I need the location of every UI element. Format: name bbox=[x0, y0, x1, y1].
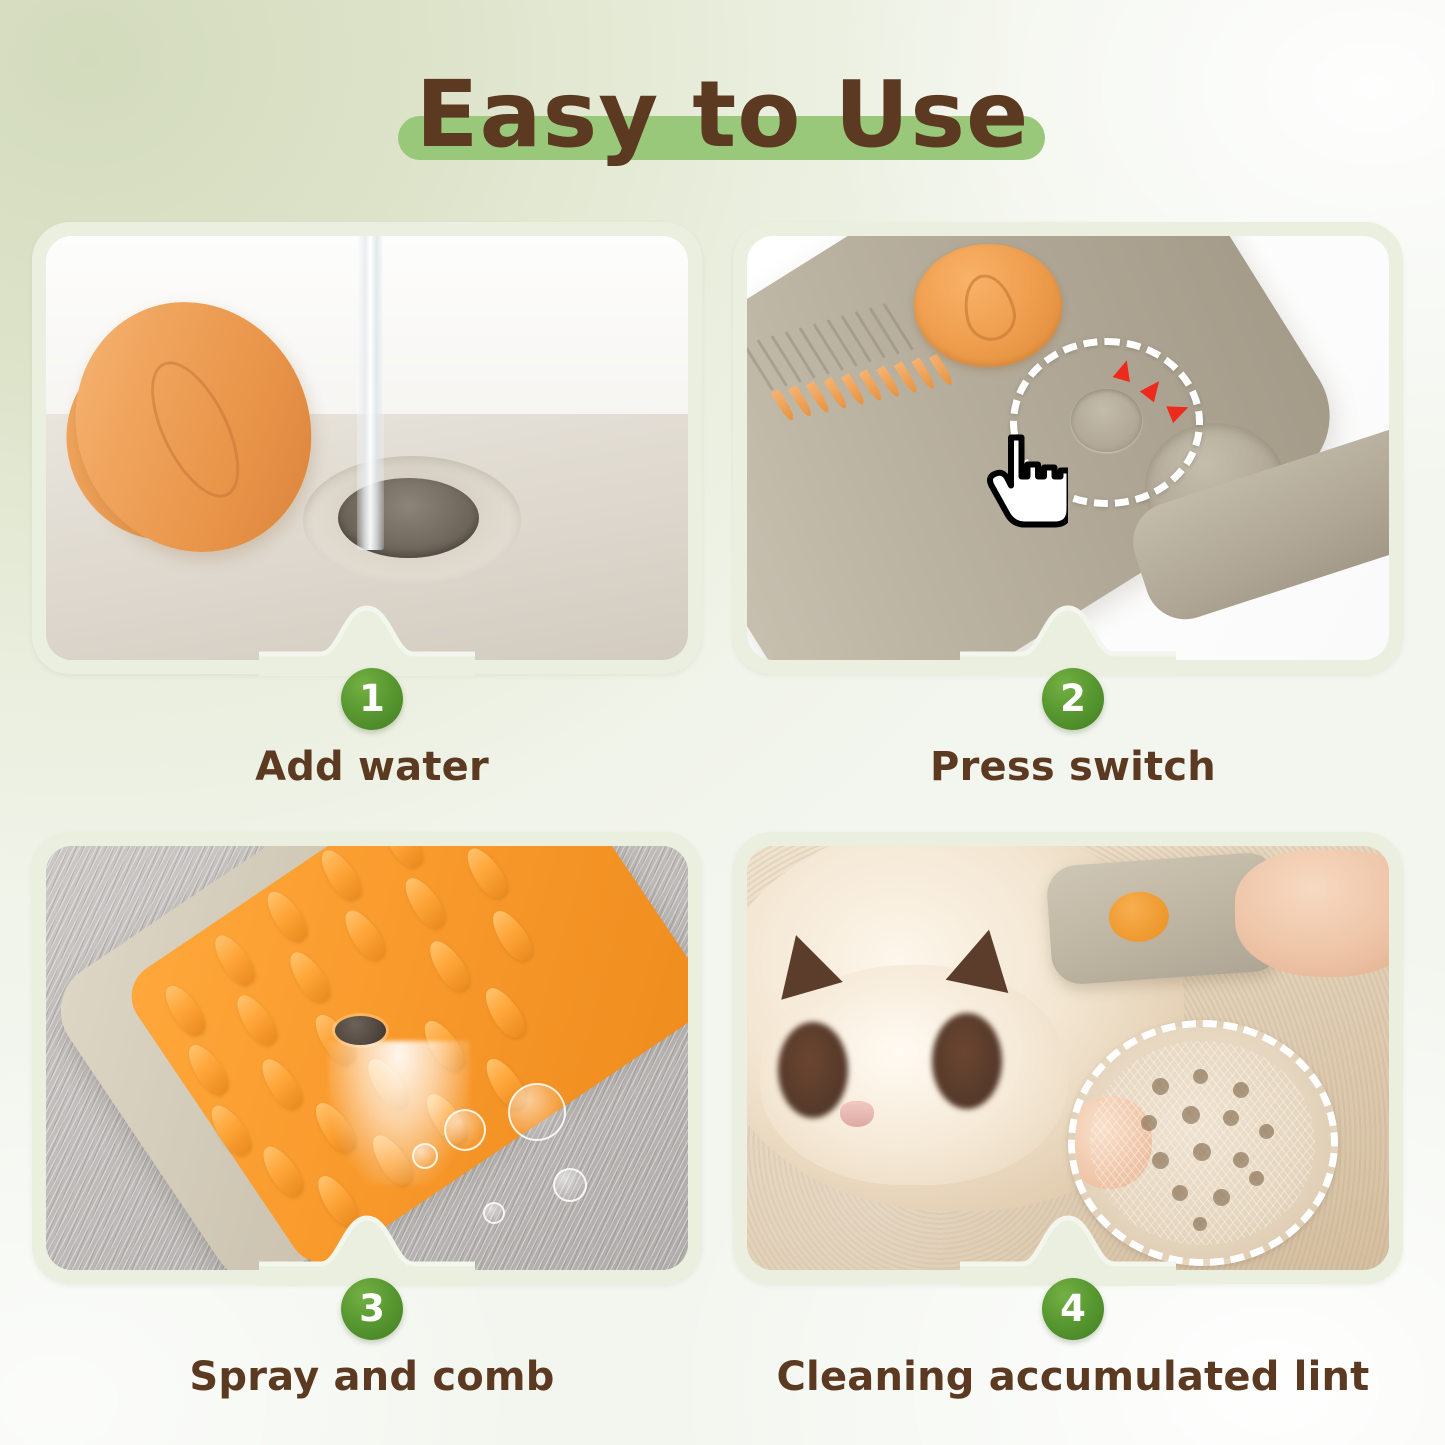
step-2-number-badge: 2 bbox=[1042, 668, 1104, 730]
photo-4-cat-eye-patch-left bbox=[778, 1022, 848, 1118]
step-card-2: 2 Press switch bbox=[723, 222, 1423, 832]
photo-3-steam-nozzle bbox=[335, 1016, 386, 1046]
photo-4-human-hand bbox=[1235, 850, 1389, 977]
photo-3-bubble bbox=[483, 1202, 505, 1224]
photo-4-cat-face bbox=[760, 965, 1068, 1185]
step-1-number-badge: 1 bbox=[341, 668, 403, 730]
photo-3-steam-mist bbox=[328, 1041, 469, 1185]
step-1-caption: Add water bbox=[22, 744, 722, 790]
photo-4-cat-ear-right bbox=[946, 923, 1021, 993]
step-3-caption: Spray and comb bbox=[22, 1354, 722, 1400]
step-card-4: 4 Cleaning accumulated lint bbox=[723, 832, 1423, 1442]
page-title: Easy to Use bbox=[0, 56, 1445, 196]
step-1-photo-add-water bbox=[46, 236, 688, 660]
step-card-3: 3 Spray and comb bbox=[22, 832, 722, 1442]
step-3-number: 3 bbox=[359, 1290, 385, 1327]
step-4-number: 4 bbox=[1060, 1290, 1086, 1327]
step-4-caption: Cleaning accumulated lint bbox=[723, 1354, 1423, 1400]
photo-4-cat-nose bbox=[840, 1101, 874, 1127]
photo-1-water-stream bbox=[357, 236, 384, 550]
step-3-number-badge: 3 bbox=[341, 1278, 403, 1340]
step-4-number-badge: 4 bbox=[1042, 1278, 1104, 1340]
easy-to-use-infographic: Easy to Use bbox=[0, 0, 1445, 1445]
step-1-number: 1 bbox=[359, 680, 385, 717]
step-2-caption: Press switch bbox=[723, 744, 1423, 790]
photo-2-red-arrow-group bbox=[1113, 355, 1216, 448]
step-2-photo-press-switch bbox=[747, 236, 1389, 660]
step-3-image-card bbox=[32, 832, 702, 1284]
photo-4-cat-eye-patch-right bbox=[932, 1013, 1002, 1109]
step-card-1: 1 Add water bbox=[22, 222, 722, 832]
step-3-photo-spray-and-comb bbox=[46, 846, 688, 1270]
steps-grid: 1 Add water bbox=[22, 222, 1423, 1422]
title-text: Easy to Use bbox=[390, 56, 1056, 174]
photo-4-lint-closeup-inset bbox=[1068, 1020, 1338, 1266]
photo-2-water-drop-button bbox=[914, 244, 1062, 367]
photo-2-pointing-hand-cursor-icon bbox=[978, 431, 1068, 531]
step-4-image-card bbox=[733, 832, 1403, 1284]
step-2-number: 2 bbox=[1060, 680, 1086, 717]
step-4-photo-cleaning-lint bbox=[747, 846, 1389, 1270]
step-2-image-card bbox=[733, 222, 1403, 674]
step-1-image-card bbox=[32, 222, 702, 674]
